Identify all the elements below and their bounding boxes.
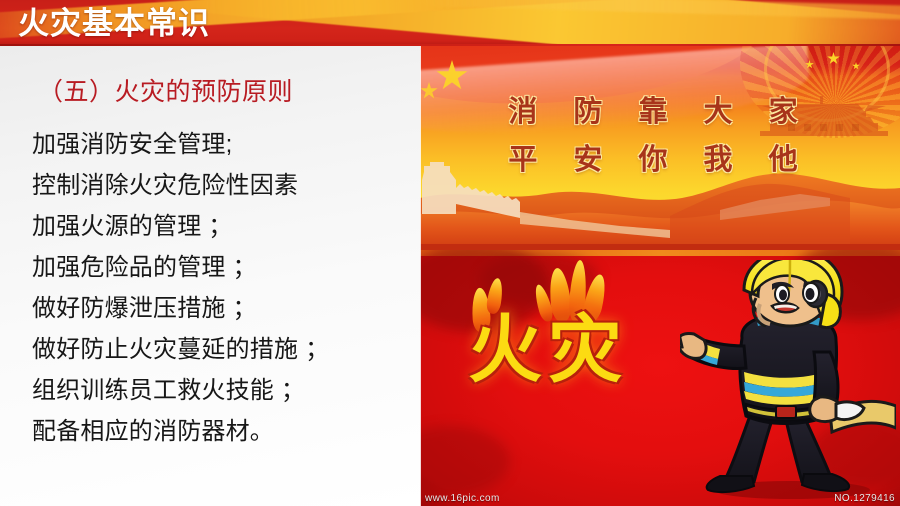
fire-word-block: 火灾 bbox=[448, 302, 648, 398]
slogan-line-1: 消 防 靠 大 家 bbox=[420, 88, 900, 136]
smoke-decoration bbox=[420, 426, 510, 496]
list-item: 做好防止火灾蔓延的措施 ； bbox=[32, 329, 422, 370]
header-swoosh-decoration-tertiary bbox=[420, 0, 900, 21]
list-item: 做好防爆泄压措施 ； bbox=[32, 288, 422, 329]
list-item: 加强火源的管理 ； bbox=[32, 206, 422, 247]
list-item: 加强危险品的管理 ； bbox=[32, 247, 422, 288]
watermark-source: www.16pic.com bbox=[425, 493, 500, 504]
page-title: 火灾基本常识 bbox=[18, 2, 210, 46]
firefighter-character-illustration bbox=[680, 260, 896, 500]
firefighter-cartoon-poster: 火灾 bbox=[420, 250, 900, 506]
list-item: 配备相应的消防器材。 bbox=[32, 411, 422, 452]
list-item: 组织训练员工救火技能 ； bbox=[32, 370, 422, 411]
slogan-text-block: 消 防 靠 大 家 平 安 你 我 他 bbox=[420, 88, 900, 184]
slide-canvas: 火灾基本常识 （五）火灾的预防原则 加强消防安全管理; 控制消除火灾危险性因素 … bbox=[0, 0, 900, 506]
header-banner: 火灾基本常识 bbox=[0, 0, 900, 46]
fire-safety-slogan-poster: 消 防 靠 大 家 平 安 你 我 他 bbox=[420, 46, 900, 250]
fire-word-text: 火灾 bbox=[448, 302, 648, 398]
image-column-right: 消 防 靠 大 家 平 安 你 我 他 火灾 bbox=[420, 46, 900, 506]
slogan-line-2: 平 安 你 我 他 bbox=[420, 136, 900, 184]
section-heading: （五）火灾的预防原则 bbox=[38, 72, 293, 108]
list-item: 控制消除火灾危险性因素 bbox=[32, 165, 422, 206]
content-panel-left: （五）火灾的预防原则 加强消防安全管理; 控制消除火灾危险性因素 加强火源的管理… bbox=[0, 46, 420, 506]
watermark-id: NO.1279416 bbox=[834, 493, 895, 504]
list-item: 加强消防安全管理; bbox=[32, 124, 422, 165]
header-swoosh-decoration bbox=[147, 0, 900, 46]
bullet-list: 加强消防安全管理; 控制消除火灾危险性因素 加强火源的管理 ； 加强危险品的管理… bbox=[32, 124, 422, 452]
